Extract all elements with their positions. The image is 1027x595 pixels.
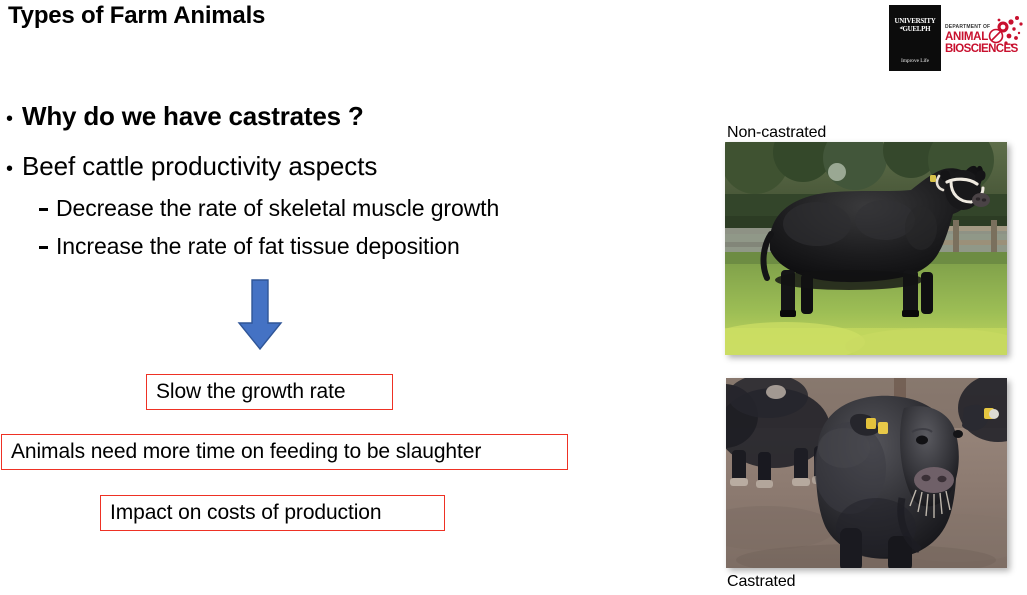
- photo-label-non-castrated: Non-castrated: [727, 124, 826, 142]
- bullet-label: Beef cattle productivity aspects: [22, 151, 377, 182]
- university-logo-wordmark: UNIVERSITY ᵒᶠGUELPH: [889, 17, 941, 33]
- bullet-marker-icon: •: [6, 109, 13, 129]
- department-label: DEPARTMENT OF: [945, 24, 990, 30]
- callout-box-more-feeding-time: Animals need more time on feeding to be …: [1, 434, 568, 470]
- callout-box-label: Animals need more time on feeding to be …: [2, 440, 490, 464]
- university-of-guelph-logo: UNIVERSITY ᵒᶠGUELPH Improve Life: [889, 5, 941, 71]
- callout-box-slow-growth: Slow the growth rate: [146, 374, 393, 410]
- bullet-marker-icon: •: [6, 159, 13, 179]
- callout-box-label: Slow the growth rate: [147, 380, 354, 404]
- dash-marker-icon: [39, 208, 48, 211]
- photo-non-castrated-bull: [725, 142, 1007, 355]
- molecule-dots-icon: [987, 14, 1023, 54]
- bullet-label: Why do we have castrates ?: [22, 101, 364, 132]
- callout-box-label: Impact on costs of production: [101, 501, 390, 525]
- down-arrow-icon: [237, 279, 283, 351]
- dash-marker-icon: [39, 246, 48, 249]
- bullet-item-why-castrates: • Why do we have castrates ?: [6, 101, 364, 132]
- subbullet-item-fat-deposition: Increase the rate of fat tissue depositi…: [39, 233, 460, 260]
- subbullet-label: Increase the rate of fat tissue depositi…: [56, 233, 460, 260]
- page-title: Types of Farm Animals: [8, 2, 265, 30]
- photo-castrated-steer: [726, 378, 1007, 568]
- subbullet-label: Decrease the rate of skeletal muscle gro…: [56, 195, 499, 222]
- university-logo-tagline: Improve Life: [889, 58, 941, 64]
- callout-box-production-costs: Impact on costs of production: [100, 495, 445, 531]
- bullet-item-productivity: • Beef cattle productivity aspects: [6, 151, 377, 182]
- photo-label-castrated: Castrated: [727, 573, 795, 591]
- logo-bar: UNIVERSITY ᵒᶠGUELPH Improve Life DEPARTM…: [889, 4, 1023, 72]
- university-logo-line1: UNIVERSITY: [895, 17, 936, 25]
- department-line1: ANIMAL: [945, 31, 988, 43]
- animal-biosciences-logo: DEPARTMENT OF ANIMAL BIOSCIENCES: [945, 12, 1023, 64]
- subbullet-item-muscle-growth: Decrease the rate of skeletal muscle gro…: [39, 195, 499, 222]
- university-logo-line2: ᵒᶠGUELPH: [889, 25, 941, 33]
